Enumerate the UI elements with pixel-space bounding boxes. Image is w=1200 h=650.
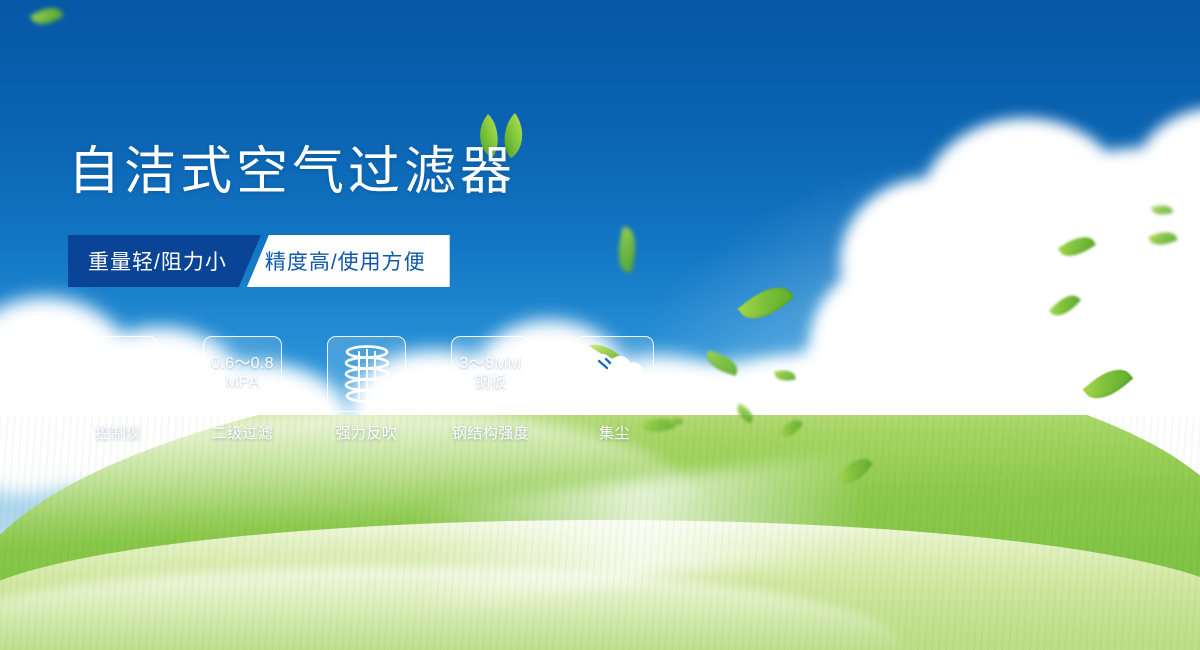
- feature-icon-box: 0.6～0.8 MPA: [203, 336, 282, 412]
- steel-line-2: 钢板: [460, 374, 522, 393]
- air-label: Air: [607, 388, 622, 402]
- feature-item-steel-strength[interactable]: 3～8MM 钢板 钢结构强度: [442, 336, 539, 443]
- tagline-badges: 重量轻/阻力小 精度高/使用方便: [68, 235, 450, 287]
- pressure-text-icon: 0.6～0.8 MPA: [211, 355, 274, 393]
- feature-icon-box: 3～8MM 钢板: [451, 336, 530, 412]
- feature-item-two-stage-filter[interactable]: 0.6～0.8 MPA 二级过滤: [194, 336, 291, 443]
- gauge-off-label: OFF: [128, 392, 143, 401]
- steel-line-1: 3～8MM: [460, 355, 522, 374]
- feature-item-controller[interactable]: NO OFF 控制仪: [70, 336, 167, 443]
- pressure-line-1: 0.6～0.8: [211, 355, 274, 374]
- badge-weight-resistance: 重量轻/阻力小: [68, 235, 261, 287]
- pressure-line-2: MPA: [211, 374, 274, 393]
- feature-icon-box: NO OFF: [79, 336, 158, 412]
- banner-content: 自洁式空气过滤器 重量轻/阻力小 精度高/使用方便: [0, 0, 1200, 650]
- feature-icon-box: [327, 336, 406, 412]
- air-cloud-icon: Air: [579, 341, 651, 407]
- feature-label: 控制仪: [95, 422, 142, 443]
- feature-label: 集尘: [599, 422, 630, 443]
- feature-label: 强力反吹: [335, 422, 397, 443]
- feature-item-backblow[interactable]: 强力反吹: [318, 336, 415, 443]
- feature-label: 二级过滤: [211, 422, 273, 443]
- badge-precision-convenience: 精度高/使用方便: [247, 235, 450, 287]
- feature-item-dust-collection[interactable]: Air 集尘: [566, 336, 663, 443]
- gauge-dial-icon: NO OFF: [84, 342, 154, 406]
- page-title: 自洁式空气过滤器: [68, 146, 516, 198]
- feature-label: 钢结构强度: [452, 422, 530, 443]
- feature-list: NO OFF 控制仪 0.6～0.8 MPA 二级过滤: [70, 336, 663, 443]
- feature-icon-box: Air: [575, 336, 654, 412]
- gauge-no-label: NO: [90, 368, 101, 377]
- product-banner: 自洁式空气过滤器 重量轻/阻力小 精度高/使用方便: [0, 0, 1200, 650]
- filter-coil-icon: [339, 343, 395, 405]
- steel-plate-text-icon: 3～8MM 钢板: [460, 355, 522, 393]
